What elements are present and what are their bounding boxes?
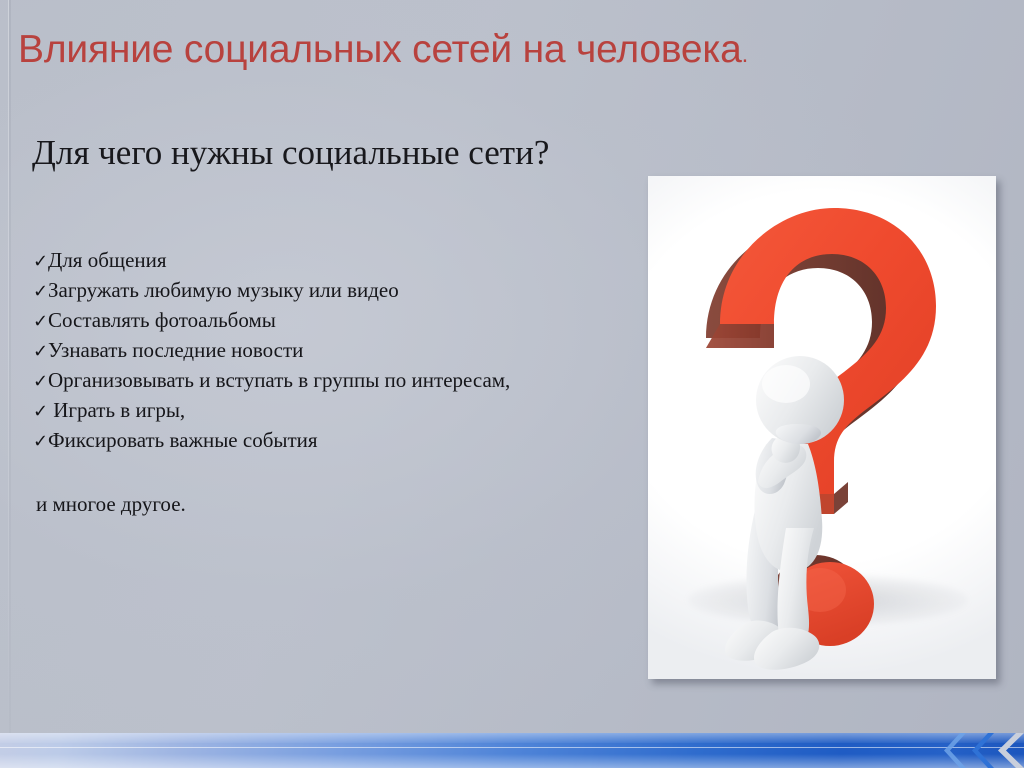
- list-item: ✓Организовывать и вступать в группы по и…: [33, 366, 633, 396]
- closing-text: и многое другое.: [36, 490, 186, 519]
- check-icon: ✓: [33, 427, 48, 456]
- check-icon: ✓: [33, 247, 48, 276]
- list-item: ✓Составлять фотоальбомы: [33, 306, 633, 336]
- check-icon: ✓: [33, 307, 48, 336]
- footer-band: [0, 733, 1024, 768]
- list-item: ✓Для общения: [33, 246, 633, 276]
- band-top-sheen: [0, 733, 1024, 743]
- chevron-left-icon: [986, 733, 1022, 768]
- list-item: ✓Загружать любимую музыку или видео: [33, 276, 633, 306]
- slide-title-text: Влияние социальных сетей на человека: [18, 28, 742, 71]
- check-icon: ✓: [33, 397, 48, 426]
- bullet-list: ✓Для общения ✓Загружать любимую музыку и…: [33, 246, 633, 456]
- list-item-label: Составлять фотоальбомы: [48, 308, 276, 332]
- image-canvas: [648, 176, 996, 679]
- check-icon: ✓: [33, 337, 48, 366]
- list-item-label: Фиксировать важные события: [48, 428, 318, 452]
- question-mark-image: [648, 176, 996, 679]
- list-item-label: Организовывать и вступать в группы по ин…: [48, 368, 510, 392]
- band-bottom-sheen: [0, 754, 1024, 768]
- list-item: ✓ Играть в игры,: [33, 396, 633, 426]
- question-mark-illustration-svg: [648, 176, 996, 679]
- list-item-label: Узнавать последние новости: [48, 338, 303, 362]
- list-item-label: Загружать любимую музыку или видео: [48, 278, 399, 302]
- check-icon: ✓: [33, 277, 48, 306]
- list-item-label: Для общения: [48, 248, 167, 272]
- list-item: ✓Фиксировать важные события: [33, 426, 633, 456]
- left-edge-shadow: [9, 0, 11, 733]
- slide-subtitle: Для чего нужны социальные сети?: [32, 132, 549, 174]
- band-hairline: [0, 747, 1024, 748]
- list-item: ✓Узнавать последние новости: [33, 336, 633, 366]
- check-icon: ✓: [33, 367, 48, 396]
- presentation-slide: Влияние социальных сетей на человека. Дл…: [0, 0, 1024, 768]
- slide-title-period: .: [742, 41, 748, 68]
- slide-title: Влияние социальных сетей на человека.: [18, 26, 978, 79]
- list-item-label: Играть в игры,: [48, 398, 185, 422]
